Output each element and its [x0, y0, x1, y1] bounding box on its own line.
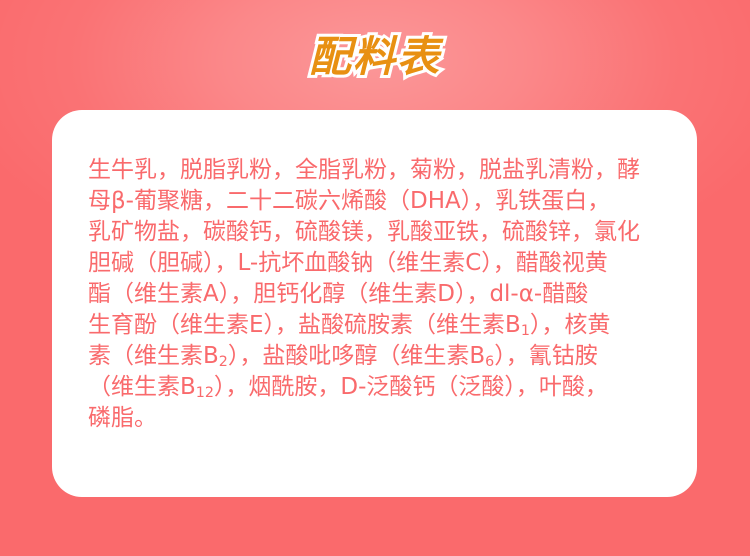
ingredient-line: 磷脂。	[88, 403, 678, 434]
page-title: 配料表	[309, 34, 441, 80]
line-text: 素（维生素B	[88, 343, 219, 369]
subscript-text: 12	[196, 385, 214, 401]
subscript-text: 1	[521, 323, 530, 339]
ingredient-line: 素（维生素B2），盐酸吡哆醇（维生素B6），氰钴胺	[88, 341, 678, 372]
line-text: ），盐酸吡哆醇（维生素B	[228, 343, 485, 369]
subscript-text: 6	[485, 354, 494, 370]
line-text: 生育酚（维生素E），盐酸硫胺素（维生素B	[88, 312, 521, 338]
ingredient-line: 酯（维生素A），胆钙化醇（维生素D），dl-α-醋酸	[88, 279, 678, 310]
page-title-container: 配料表	[0, 34, 750, 80]
line-text: 磷脂。	[88, 405, 157, 431]
ingredient-line: 生育酚（维生素E），盐酸硫胺素（维生素B1），核黄	[88, 310, 678, 341]
ingredient-line: 乳矿物盐，碳酸钙，硫酸镁，乳酸亚铁，硫酸锌，氯化	[88, 217, 678, 248]
line-text: 生牛乳，脱脂乳粉，全脂乳粉，菊粉，脱盐乳清粉，酵	[88, 157, 640, 183]
ingredient-line: 母β-葡聚糖，二十二碳六烯酸（DHA），乳铁蛋白，	[88, 186, 678, 217]
line-text: 母β-葡聚糖，二十二碳六烯酸（DHA），乳铁蛋白，	[88, 188, 610, 214]
line-text: ），核黄	[530, 312, 611, 338]
ingredient-line: 胆碱（胆碱），L-抗坏血酸钠（维生素C），醋酸视黄	[88, 248, 678, 279]
ingredients-text-block: 生牛乳，脱脂乳粉，全脂乳粉，菊粉，脱盐乳清粉，酵母β-葡聚糖，二十二碳六烯酸（D…	[88, 155, 678, 434]
ingredients-page: 配料表 生牛乳，脱脂乳粉，全脂乳粉，菊粉，脱盐乳清粉，酵母β-葡聚糖，二十二碳六…	[0, 0, 750, 556]
ingredient-line: 生牛乳，脱脂乳粉，全脂乳粉，菊粉，脱盐乳清粉，酵	[88, 155, 678, 186]
line-text: ），氰钴胺	[494, 343, 598, 369]
line-text: 乳矿物盐，碳酸钙，硫酸镁，乳酸亚铁，硫酸锌，氯化	[88, 219, 640, 245]
line-text: （维生素B	[88, 374, 196, 400]
line-text: ），烟酰胺，D-泛酸钙（泛酸），叶酸，	[214, 374, 608, 400]
line-text: 酯（维生素A），胆钙化醇（维生素D），dl-α-醋酸	[88, 281, 588, 307]
line-text: 胆碱（胆碱），L-抗坏血酸钠（维生素C），醋酸视黄	[88, 250, 608, 276]
ingredient-line: （维生素B12），烟酰胺，D-泛酸钙（泛酸），叶酸，	[88, 372, 678, 403]
subscript-text: 2	[219, 354, 228, 370]
